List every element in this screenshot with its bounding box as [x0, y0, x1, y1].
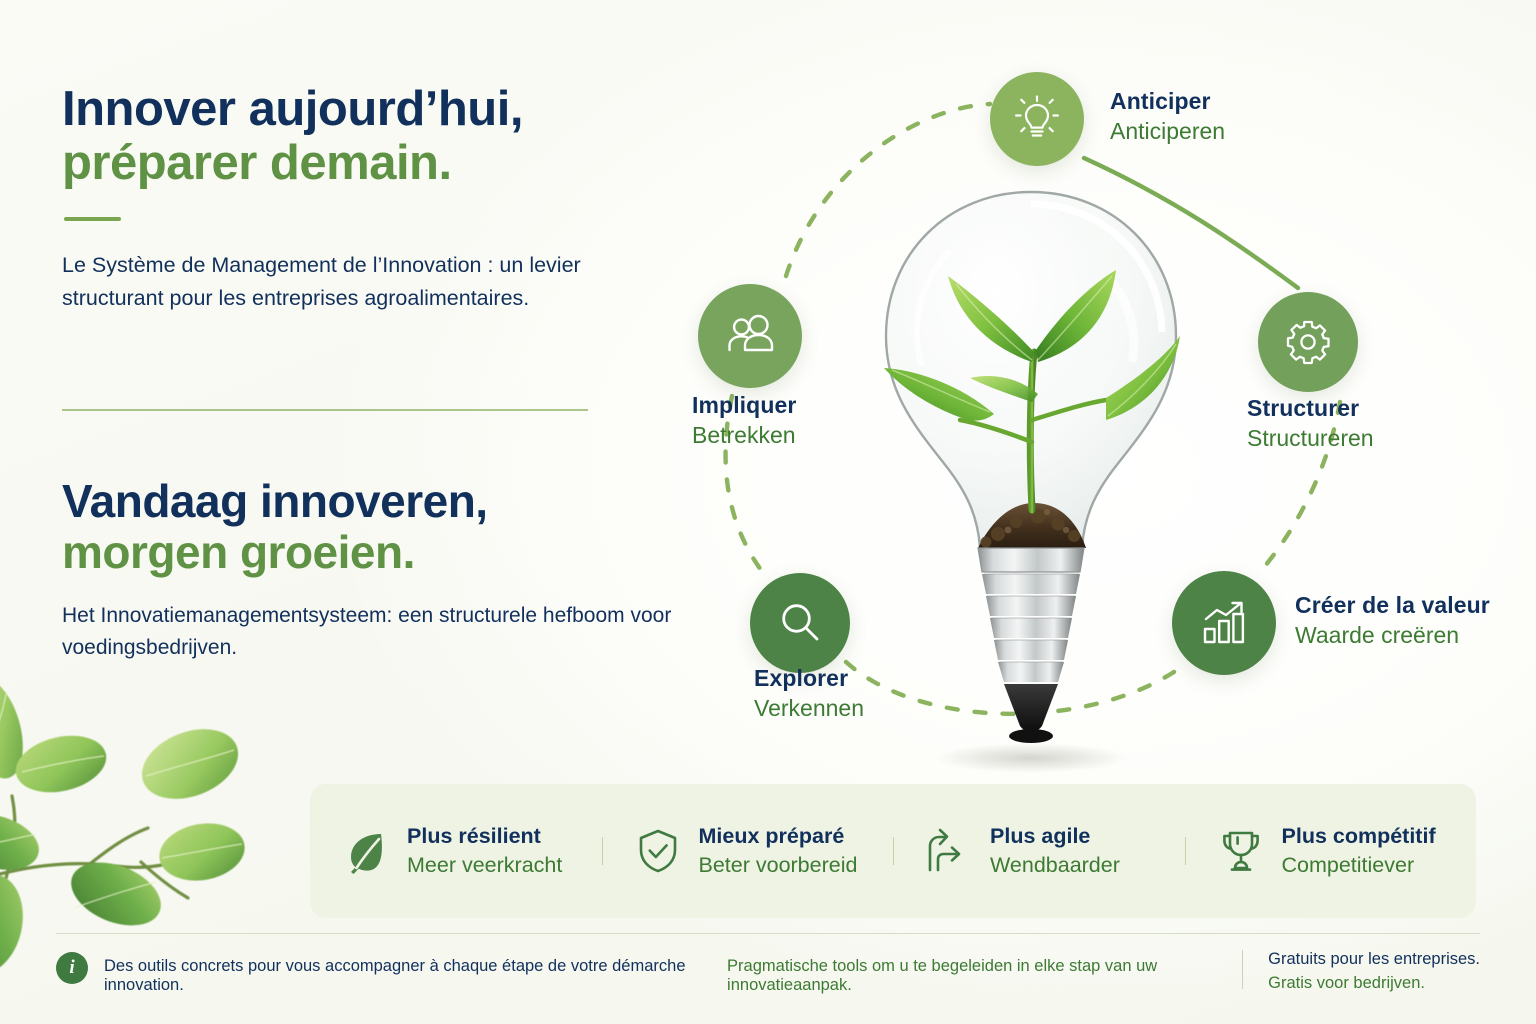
benefit-prepared-fr: Mieux préparé: [699, 824, 858, 849]
node-impliquer-disc[interactable]: [698, 284, 802, 388]
node-explorer-label: Explorer Verkennen: [754, 665, 864, 722]
benefit-resilient-nl: Meer veerkracht: [407, 853, 562, 878]
lightbulb-seedling-image: [866, 180, 1196, 780]
node-anticiper-nl: Anticiperen: [1110, 118, 1225, 145]
benefit-item-resilient: Plus résilient Meer veerkracht: [310, 824, 602, 878]
node-creer-valeur-label: Créer de la valeur Waarde creëren: [1295, 592, 1490, 649]
node-impliquer-nl: Betrekken: [692, 422, 796, 449]
headline-nl-line1: Vandaag innoveren,: [62, 476, 682, 527]
node-creer-valeur-fr: Créer de la valeur: [1295, 592, 1490, 619]
benefit-item-competitive: Plus compétitif Competitiever: [1185, 824, 1477, 878]
headline-fr-line1: Innover aujourd’hui,: [62, 83, 682, 137]
growth-chart-icon: [1196, 595, 1252, 651]
footer-free-fr: Gratuits pour les entreprises.: [1268, 950, 1480, 969]
footer-divider: [56, 933, 1480, 934]
node-impliquer-fr: Impliquer: [692, 392, 796, 419]
gear-icon: [1281, 315, 1335, 369]
section-divider: [62, 409, 588, 411]
poster-canvas: Innover aujourd’hui, préparer demain. Le…: [0, 0, 1536, 1024]
node-structurer-disc[interactable]: [1258, 292, 1358, 392]
headline-nl-line2: morgen groeien.: [62, 527, 682, 578]
magnifier-icon: [773, 596, 827, 650]
node-anticiper-disc[interactable]: [990, 72, 1084, 166]
node-structurer-fr: Structurer: [1247, 395, 1374, 422]
headline-nl: Vandaag innoveren, morgen groeien.: [62, 476, 682, 577]
trophy-icon: [1217, 827, 1265, 875]
people-icon: [722, 308, 778, 364]
french-text-block: Innover aujourd’hui, préparer demain. Le…: [62, 62, 682, 336]
accent-rule-fr: [64, 217, 121, 221]
leaf-icon: [342, 827, 390, 875]
lightbulb-icon: [1010, 92, 1064, 146]
footer-text: Des outils concrets pour vous accompagne…: [104, 948, 1242, 995]
benefit-agile-nl: Wendbaarder: [990, 853, 1120, 878]
benefit-item-prepared: Mieux préparé Beter voorbereid: [602, 824, 894, 878]
benefit-competitive-fr: Plus compétitif: [1282, 824, 1436, 849]
headline-fr-line2: préparer demain.: [62, 137, 682, 191]
benefit-resilient-text: Plus résilient Meer veerkracht: [407, 824, 562, 878]
innovation-cycle-diagram: Anticiper Anticiperen Structurer Structu…: [660, 30, 1536, 790]
node-impliquer-label: Impliquer Betrekken: [692, 392, 796, 449]
benefit-agile-text: Plus agile Wendbaarder: [990, 824, 1120, 878]
node-structurer-nl: Structureren: [1247, 425, 1374, 452]
footer-fr: Des outils concrets pour vous accompagne…: [104, 957, 717, 995]
node-explorer-fr: Explorer: [754, 665, 864, 692]
body-fr: Le Système de Management de l’Innovation…: [62, 249, 682, 314]
footer-bar: i Des outils concrets pour vous accompag…: [56, 948, 1480, 1010]
node-explorer-nl: Verkennen: [754, 695, 864, 722]
benefit-resilient-fr: Plus résilient: [407, 824, 562, 849]
node-anticiper-label: Anticiper Anticiperen: [1110, 88, 1225, 145]
node-anticiper-fr: Anticiper: [1110, 88, 1225, 115]
headline-fr: Innover aujourd’hui, préparer demain.: [62, 83, 682, 191]
branching-arrow-icon: [925, 827, 973, 875]
node-explorer-disc[interactable]: [750, 573, 850, 673]
bulb-screw-threads: [982, 574, 1080, 682]
node-creer-valeur-disc[interactable]: [1172, 571, 1276, 675]
footer-free-note: Gratuits pour les entreprises. Gratis vo…: [1242, 948, 1480, 993]
benefit-prepared-nl: Beter voorbereid: [699, 853, 858, 878]
body-nl: Het Innovatiemanagementsysteem: een stru…: [62, 600, 682, 664]
stem: [1030, 352, 1034, 510]
bulb-collar: [978, 548, 1084, 572]
bulb-contact: [1004, 684, 1058, 732]
footer-nl: Pragmatische tools om u te begeleiden in…: [727, 957, 1242, 995]
benefit-competitive-text: Plus compétitif Competitiever: [1282, 824, 1436, 878]
benefit-agile-fr: Plus agile: [990, 824, 1120, 849]
info-icon: i: [56, 952, 88, 984]
dutch-text-block: Vandaag innoveren, morgen groeien. Het I…: [62, 455, 682, 684]
benefit-item-agile: Plus agile Wendbaarder: [893, 824, 1185, 878]
benefit-prepared-text: Mieux préparé Beter voorbereid: [699, 824, 858, 878]
footer-free-nl: Gratis voor bedrijven.: [1268, 974, 1480, 993]
node-creer-valeur-nl: Waarde creëren: [1295, 622, 1490, 649]
node-structurer-label: Structurer Structureren: [1247, 395, 1374, 452]
benefits-panel: Plus résilient Meer veerkracht Mieux pré…: [310, 784, 1476, 918]
shield-check-icon: [634, 827, 682, 875]
benefit-competitive-nl: Competitiever: [1282, 853, 1436, 878]
